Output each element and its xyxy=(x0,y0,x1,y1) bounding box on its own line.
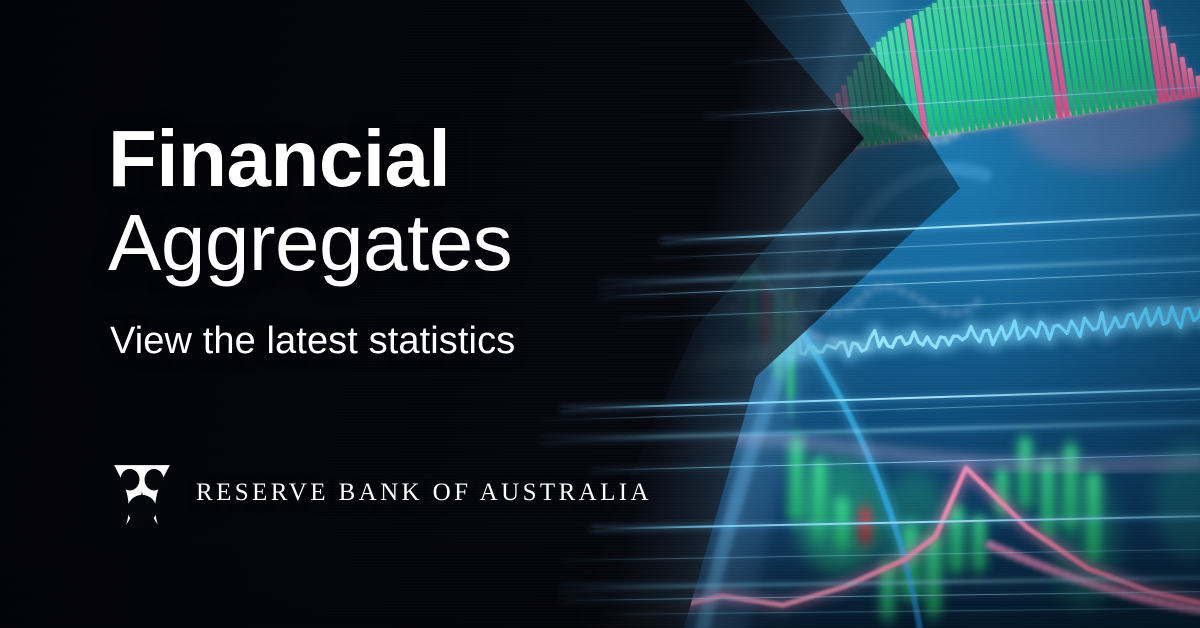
brand-lockup: RESERVE BANK OF AUSTRALIA xyxy=(110,460,652,526)
banner: Financial Aggregates View the latest sta… xyxy=(0,0,1200,628)
grid-beam xyxy=(760,0,1200,19)
subheadline: View the latest statistics xyxy=(110,320,515,363)
organisation-name: RESERVE BANK OF AUSTRALIA xyxy=(196,479,652,507)
banner-content: Financial Aggregates View the latest sta… xyxy=(108,0,808,628)
page-title: Financial Aggregates xyxy=(108,117,512,283)
headline-line-1: Financial xyxy=(108,117,512,200)
headline-line-2: Aggregates xyxy=(108,201,512,284)
rba-logo-mark-icon xyxy=(110,460,174,526)
